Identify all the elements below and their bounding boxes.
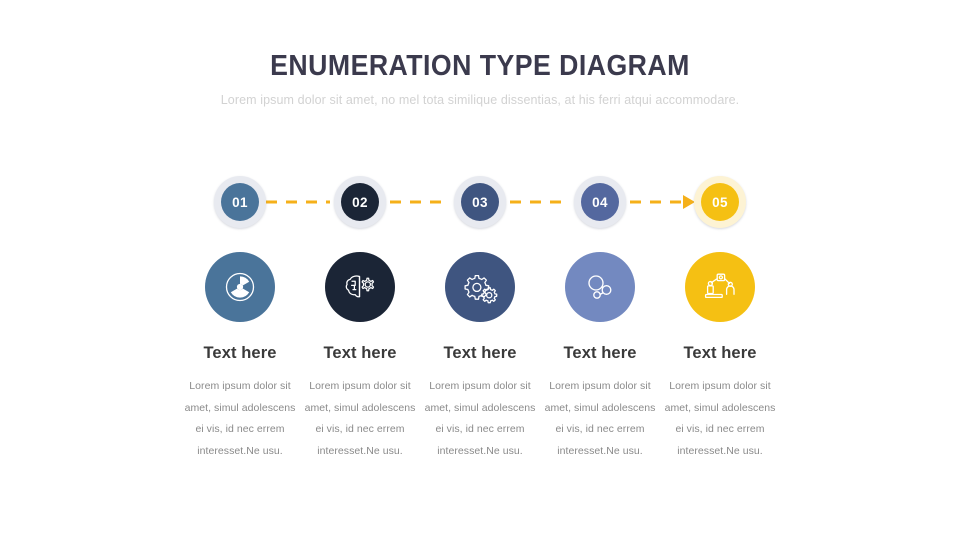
step-number-03: 03: [461, 183, 499, 221]
icon-disc-03[interactable]: [445, 252, 515, 322]
column-body-03: Lorem ipsum dolor sit amet, simul adoles…: [424, 376, 536, 462]
column-body-02: Lorem ipsum dolor sit amet, simul adoles…: [304, 376, 416, 462]
gears-icon: [462, 270, 498, 304]
column-05: Text here Lorem ipsum dolor sit amet, si…: [644, 252, 796, 462]
step-number-04: 04: [581, 183, 619, 221]
step-node-01[interactable]: 01: [214, 176, 266, 228]
page-subtitle: Lorem ipsum dolor sit amet, no mel tota …: [0, 92, 960, 108]
brain-gear-icon: [342, 270, 378, 304]
step-node-03[interactable]: 03: [454, 176, 506, 228]
icon-disc-01[interactable]: [205, 252, 275, 322]
step-node-05[interactable]: 05: [694, 176, 746, 228]
column-body-05: Lorem ipsum dolor sit amet, simul adoles…: [664, 376, 776, 462]
step-number-01: 01: [221, 183, 259, 221]
molecule-icon: [583, 271, 617, 303]
page-title: ENUMERATION TYPE DIAGRAM: [38, 48, 921, 84]
slide-canvas: ENUMERATION TYPE DIAGRAM Lorem ipsum dol…: [0, 0, 960, 540]
icon-disc-05[interactable]: [685, 252, 755, 322]
step-number-05: 05: [701, 183, 739, 221]
column-body-04: Lorem ipsum dolor sit amet, simul adoles…: [544, 376, 656, 462]
header: ENUMERATION TYPE DIAGRAM Lorem ipsum dol…: [0, 48, 960, 108]
robot-arm-icon: [701, 270, 739, 304]
step-number-02: 02: [341, 183, 379, 221]
step-node-04[interactable]: 04: [574, 176, 626, 228]
icon-disc-04[interactable]: [565, 252, 635, 322]
column-title-05: Text here: [644, 343, 796, 363]
step-node-02[interactable]: 02: [334, 176, 386, 228]
column-body-01: Lorem ipsum dolor sit amet, simul adoles…: [184, 376, 296, 462]
radiation-icon: [223, 270, 257, 304]
icon-disc-02[interactable]: [325, 252, 395, 322]
steps-rail: 01 02 03 04 05: [0, 176, 960, 228]
